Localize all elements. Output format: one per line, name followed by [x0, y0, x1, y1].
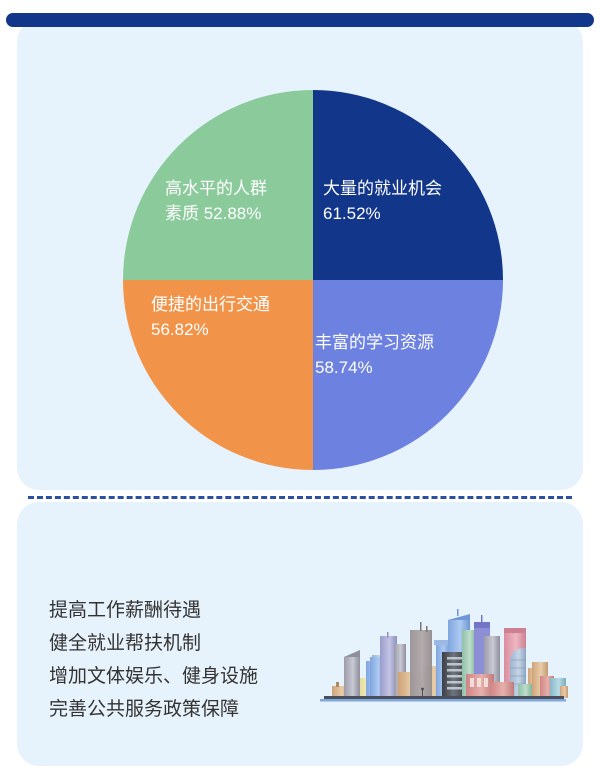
list-item: 完善公共服务政策保障 — [49, 693, 258, 726]
pie-label-quality-value: 素质 52.88% — [165, 201, 267, 226]
city-skyline-icon — [314, 600, 570, 702]
aspiration-list: 提高工作薪酬待遇 健全就业帮扶机制 增加文体娱乐、健身设施 完善公共服务政策保障 — [49, 594, 258, 726]
pie-label-transport-name: 便捷的出行交通 — [151, 292, 270, 317]
pie-label-quality-name: 高水平的人群 — [165, 176, 267, 201]
dashed-divider — [28, 496, 572, 499]
pie-label-learning: 丰富的学习资源 58.74% — [315, 330, 434, 380]
list-item: 增加文体娱乐、健身设施 — [49, 660, 258, 693]
pie-label-employment-value: 61.52% — [323, 201, 442, 226]
top-accent-bar — [6, 13, 594, 27]
pie-label-learning-value: 58.74% — [315, 355, 434, 380]
list-item: 健全就业帮扶机制 — [49, 627, 258, 660]
pie-label-learning-name: 丰富的学习资源 — [315, 330, 434, 355]
pie-label-transport: 便捷的出行交通 56.82% — [151, 292, 270, 342]
pie-label-quality: 高水平的人群 素质 52.88% — [165, 176, 267, 226]
pie-label-employment-name: 大量的就业机会 — [323, 176, 442, 201]
list-item: 提高工作薪酬待遇 — [49, 594, 258, 627]
pie-label-employment: 大量的就业机会 61.52% — [323, 176, 442, 226]
pie-chart-svg — [123, 90, 503, 470]
pie-label-transport-value: 56.82% — [151, 317, 270, 342]
pie-chart: 大量的就业机会 61.52% 丰富的学习资源 58.74% 便捷的出行交通 56… — [123, 90, 503, 470]
